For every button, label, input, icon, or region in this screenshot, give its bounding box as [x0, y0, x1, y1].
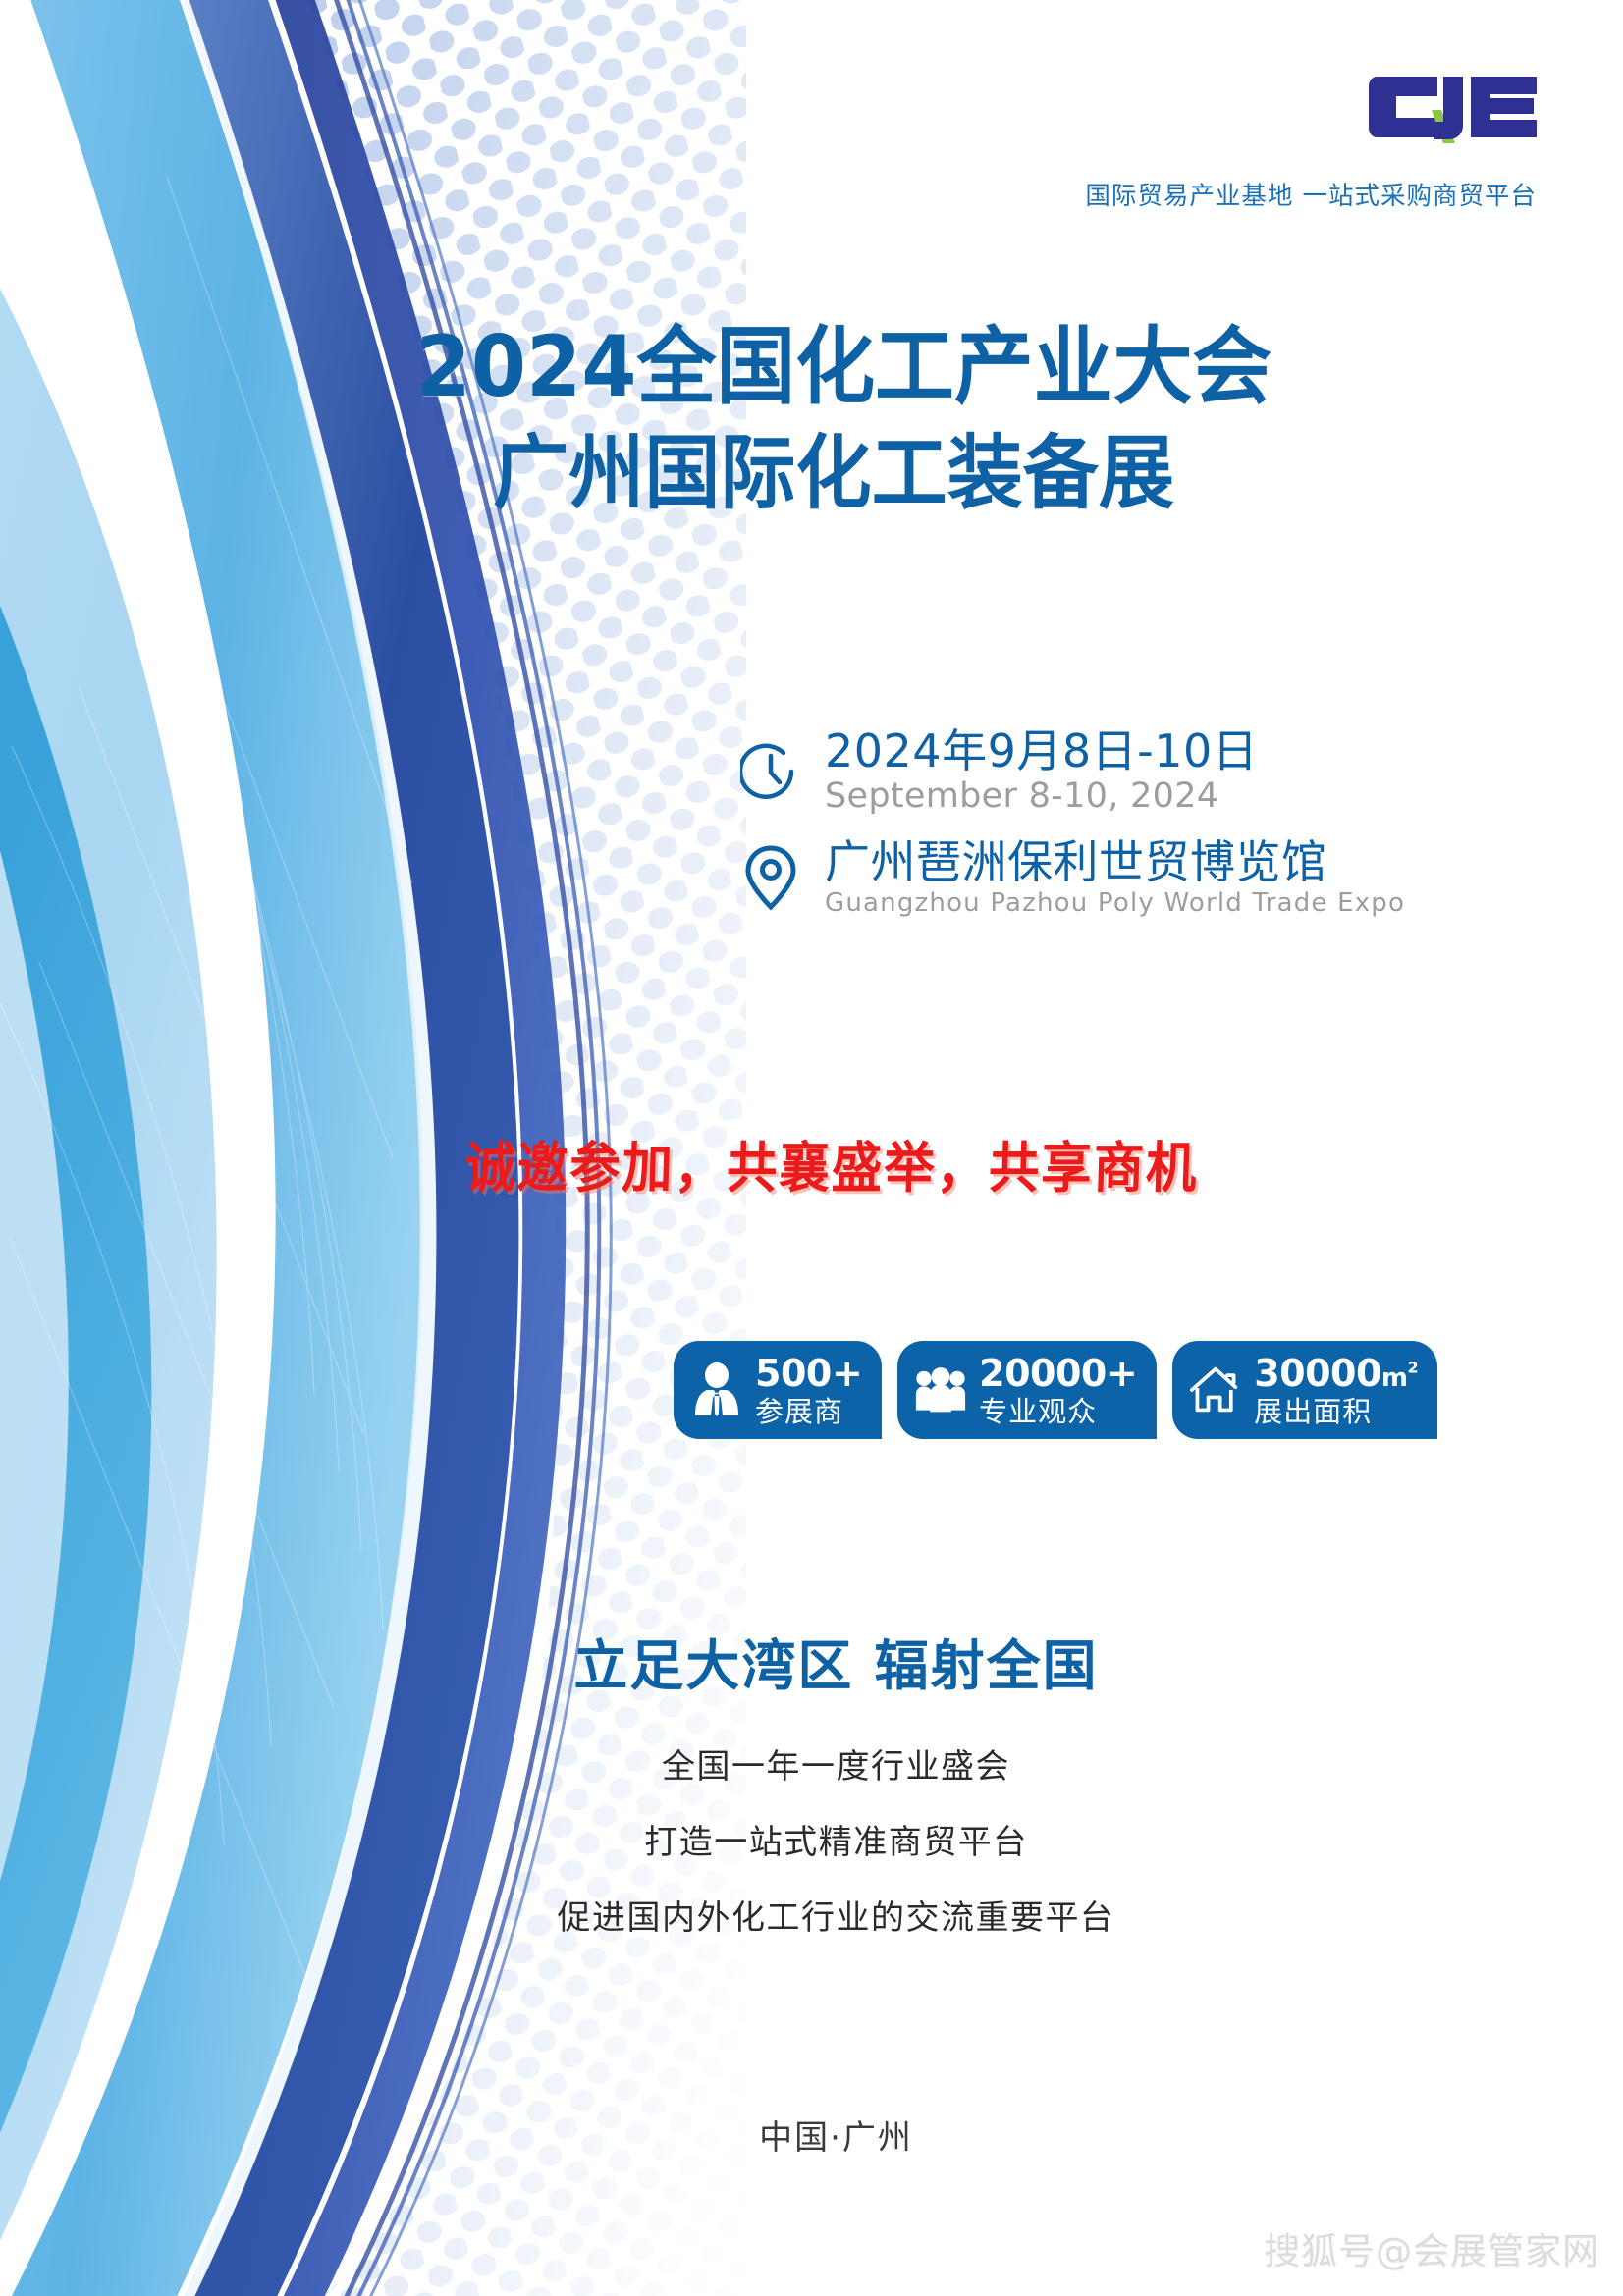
stat-value-visitors: 20000+ [979, 1355, 1137, 1392]
people-group-icon [915, 1362, 966, 1418]
event-date-cn: 2024年9月8日-10日 [825, 728, 1258, 774]
stat-badge-visitors: 20000+ 专业观众 [897, 1341, 1157, 1439]
stat-value-area-unit: m [1381, 1363, 1408, 1393]
clock-icon [738, 739, 803, 804]
person-tie-icon [691, 1362, 742, 1418]
event-venue-row: 广州琶洲保利世贸博览馆 Guangzhou Pazhou Poly World … [738, 839, 1405, 916]
brand-tagline: 国际贸易产业基地 一站式采购商贸平台 [1085, 176, 1537, 212]
bottom-line-2: 打造一站式精准商贸平台 [49, 1815, 1623, 1863]
stat-badge-area: 30000m2 展出面积 [1172, 1341, 1437, 1439]
stat-value-exhibitors: 500+ [755, 1355, 862, 1392]
bottom-heading: 立足大湾区 辐射全国 [49, 1622, 1623, 1700]
stat-badges: 500+ 参展商 20000+ 专业观众 [674, 1341, 1437, 1439]
event-info-block: 2024年9月8日-10日 September 8-10, 2024 广州琶洲保… [738, 728, 1405, 941]
bottom-lines: 全国一年一度行业盛会 打造一站式精准商贸平台 促进国内外化工行业的交流重要平台 [49, 1739, 1623, 1939]
stat-badge-exhibitors: 500+ 参展商 [674, 1341, 882, 1439]
house-icon [1190, 1362, 1241, 1418]
event-venue-cn: 广州琶洲保利世贸博览馆 [825, 839, 1405, 884]
poster-canvas: 国际贸易产业基地 一站式采购商贸平台 2024全国化工产业大会 广州国际化工装备… [0, 0, 1623, 2296]
bottom-line-1: 全国一年一度行业盛会 [49, 1739, 1623, 1788]
stat-value-area-superscript: 2 [1408, 1358, 1419, 1376]
title-block: 2024全国化工产业大会 广州国际化工装备展 [0, 322, 1623, 517]
watermark: 搜狐号@会展管家网 [1264, 2221, 1599, 2274]
header: 国际贸易产业基地 一站式采购商贸平台 [1085, 67, 1537, 212]
event-date-row: 2024年9月8日-10日 September 8-10, 2024 [738, 728, 1405, 814]
stat-value-area-number: 30000 [1254, 1352, 1381, 1395]
footer-city: 中国·广州 [0, 2110, 1623, 2159]
slogan-text: 诚邀参加，共襄盛举，共享商机 [463, 1124, 1200, 1203]
location-pin-icon [738, 845, 803, 910]
stat-label-area: 展出面积 [1254, 1398, 1418, 1426]
cje-logo-icon [1365, 67, 1537, 150]
page-title-line1: 2024全国化工产业大会 [49, 322, 1575, 413]
event-venue-en: Guangzhou Pazhou Poly World Trade Expo [825, 890, 1405, 916]
stat-label-exhibitors: 参展商 [755, 1398, 862, 1426]
stat-value-area: 30000m2 [1254, 1355, 1418, 1392]
bottom-line-3: 促进国内外化工行业的交流重要平台 [49, 1891, 1623, 1939]
page-title-line2: 广州国际化工装备展 [49, 431, 1575, 518]
slogan-block: 诚邀参加，共襄盛举，共享商机 [0, 1124, 1623, 1203]
bottom-message-block: 立足大湾区 辐射全国 全国一年一度行业盛会 打造一站式精准商贸平台 促进国内外化… [0, 1622, 1623, 1966]
event-date-en: September 8-10, 2024 [825, 779, 1258, 814]
stat-label-visitors: 专业观众 [979, 1398, 1137, 1426]
